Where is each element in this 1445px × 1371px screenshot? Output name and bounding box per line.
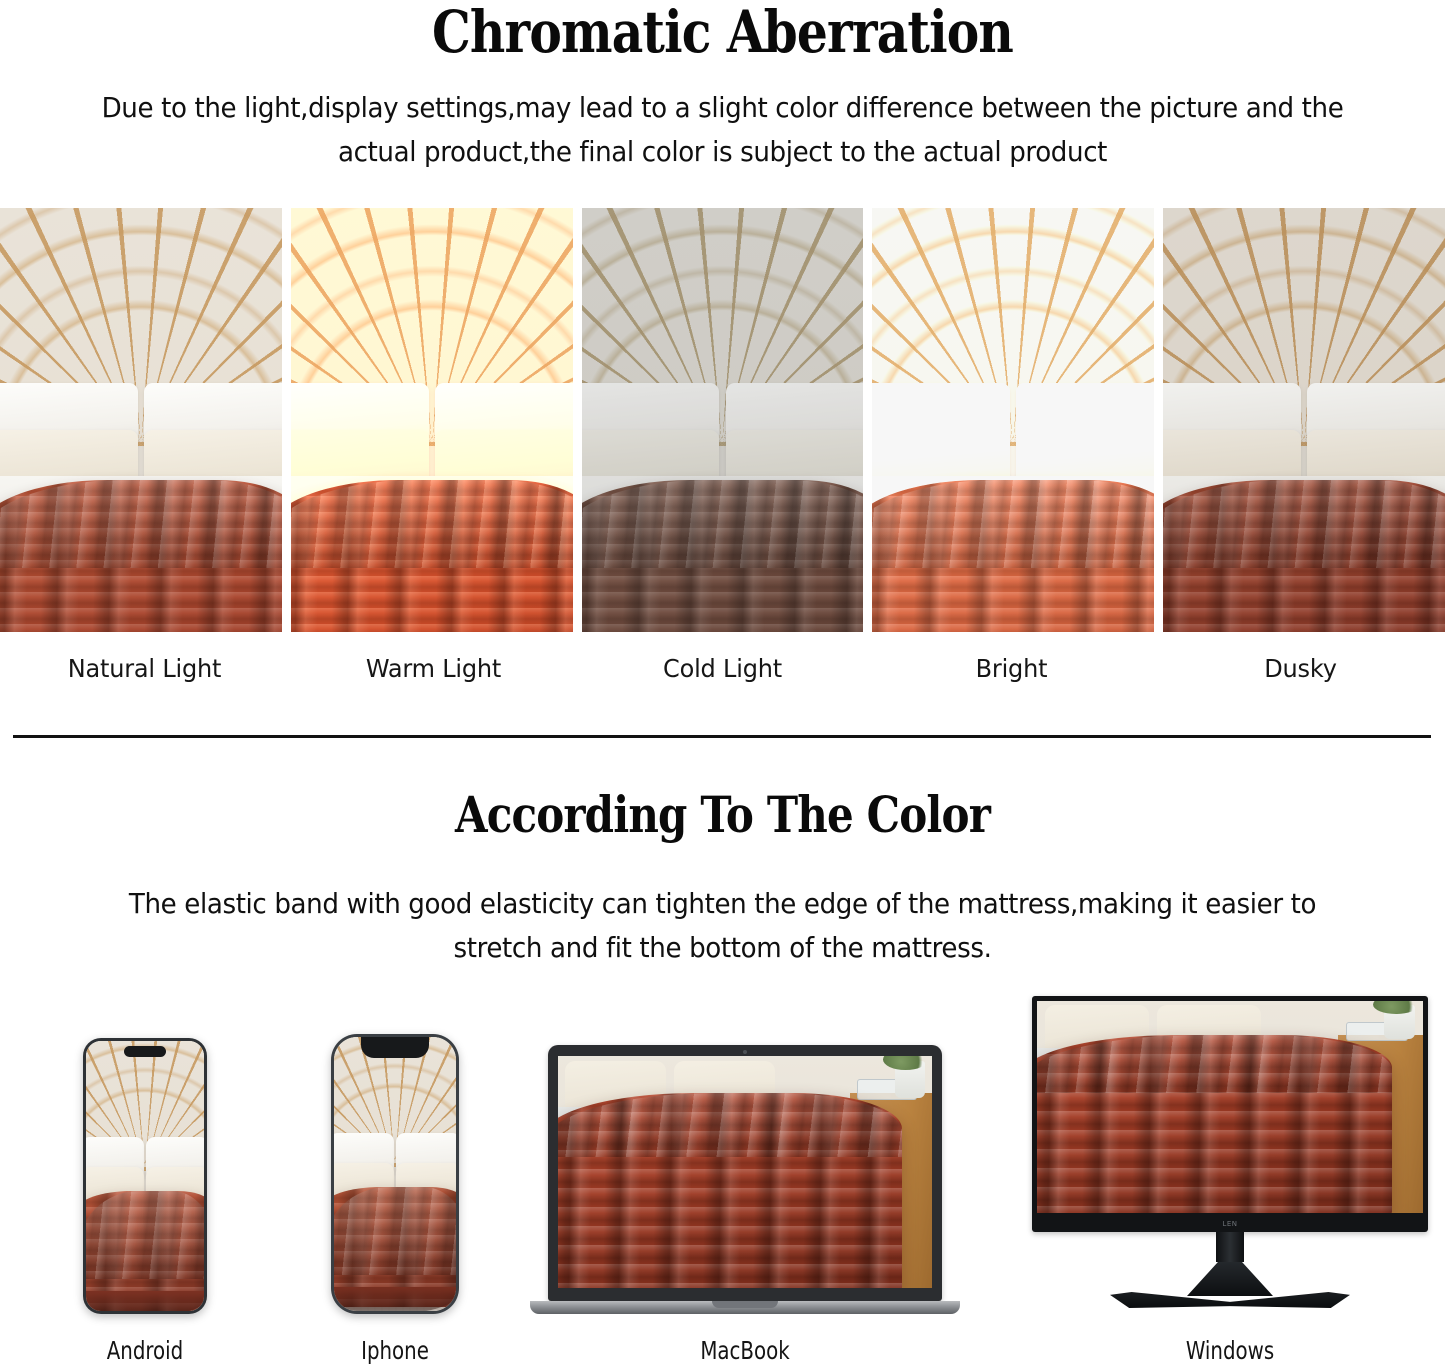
chromatic-aberration-section: Chromatic Aberration Due to the light,di… [0, 0, 1445, 174]
elastic-band-description-text: The elastic band with good elasticity ca… [36, 882, 1409, 970]
device-label-macbook: MacBook [538, 1330, 952, 1371]
light-label-dusky: Dusky [1162, 648, 1439, 690]
macbook-screen [558, 1056, 932, 1288]
stand-riser [1187, 1262, 1273, 1296]
faux-fur-blanket [0, 480, 282, 632]
iphone-frame [331, 1034, 459, 1314]
device-label-row: Android Iphone MacBook Windows [0, 1330, 1445, 1371]
light-label-bright: Bright [873, 648, 1150, 690]
monitor-screen-content [1037, 1001, 1423, 1213]
android-phone-frame [83, 1038, 207, 1314]
faux-fur-blanket [872, 480, 1154, 632]
macbook-frame [530, 1045, 960, 1314]
monitor-stand [1105, 1262, 1355, 1314]
device-label-windows: Windows [1041, 1330, 1419, 1371]
light-panel-bright [872, 208, 1154, 632]
android-phone-screen [86, 1041, 204, 1311]
bedroom-photo-natural-light [0, 208, 282, 632]
iphone-screen [334, 1037, 456, 1311]
android-screen-content [86, 1041, 204, 1311]
faux-fur-blanket [1037, 1035, 1392, 1213]
light-label-cold-light: Cold Light [584, 648, 861, 690]
macbook-lid [548, 1045, 942, 1301]
device-comparison-strip: LEN [0, 1014, 1445, 1314]
faux-fur-blanket [291, 480, 573, 632]
lighting-label-row: Natural Light Warm Light Cold Light Brig… [0, 648, 1445, 690]
faux-fur-blanket [1163, 480, 1445, 632]
chromatic-disclaimer-text: Due to the light,display settings,may le… [36, 86, 1409, 174]
device-label-iphone: Iphone [267, 1330, 522, 1371]
device-mockup-android [0, 1024, 290, 1314]
light-panel-natural-light [0, 208, 282, 632]
webcam-icon [743, 1050, 747, 1054]
bedroom-photo-dusky [1163, 208, 1445, 632]
according-to-color-section: According To The Color The elastic band … [0, 790, 1445, 970]
monitor-bezel: LEN [1032, 996, 1428, 1232]
page-title: Chromatic Aberration [116, 0, 1330, 61]
device-mockup-iphone [250, 1024, 540, 1314]
lighting-comparison-strip [0, 208, 1445, 632]
light-label-natural-light: Natural Light [6, 648, 283, 690]
trackpad-notch [712, 1301, 778, 1308]
monitor-brand-logo: LEN [1217, 1220, 1243, 1228]
faux-fur-blanket [334, 1187, 456, 1307]
macbook-base [530, 1301, 960, 1314]
monitor-neck [1216, 1232, 1244, 1262]
device-mockup-macbook [510, 1019, 980, 1314]
faux-fur-blanket [86, 1191, 204, 1311]
faux-fur-blanket [558, 1093, 902, 1288]
monitor-screen [1037, 1001, 1423, 1213]
device-mockup-windows-monitor: LEN [1015, 1014, 1445, 1314]
light-panel-cold-light [582, 208, 864, 632]
section-title: According To The Color [116, 790, 1330, 840]
faux-fur-blanket [582, 480, 864, 632]
camera-cutout-icon [124, 1046, 166, 1057]
bedroom-photo-warm-light [291, 208, 573, 632]
device-label-android: Android [17, 1330, 272, 1371]
bedroom-photo-cold-light [582, 208, 864, 632]
notch-icon [361, 1037, 429, 1058]
section-divider [13, 735, 1431, 738]
bedroom-photo-bright [872, 208, 1154, 632]
iphone-screen-content [334, 1037, 456, 1311]
macbook-screen-content [558, 1056, 932, 1288]
light-panel-dusky [1163, 208, 1445, 632]
light-label-warm-light: Warm Light [295, 648, 572, 690]
light-panel-warm-light [291, 208, 573, 632]
monitor-frame: LEN [1032, 996, 1428, 1314]
